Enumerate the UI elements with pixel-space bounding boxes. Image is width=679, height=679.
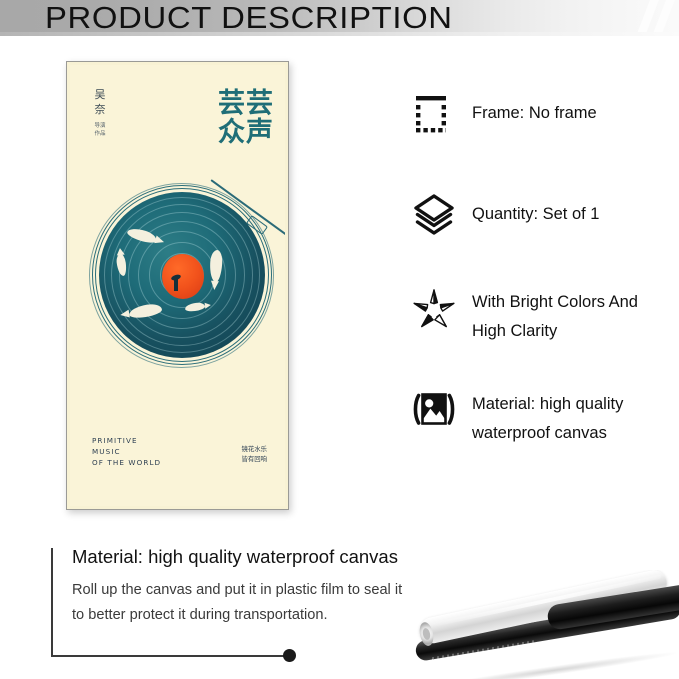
poster-title-column-left: 芸 众 [218, 89, 245, 147]
feature-label-frame: Frame: No frame [472, 92, 597, 128]
rolled-canvas-photo [398, 570, 679, 679]
vinyl-record-icon [99, 192, 265, 358]
feature-item-material: Material: high quality waterproof canvas [412, 388, 672, 448]
feature-item-quantity: Quantity: Set of 1 [412, 193, 600, 237]
poster-caption-cn-line: 镜花水乐 [241, 444, 267, 454]
bottom-material-section: Material: high quality waterproof canvas… [0, 528, 679, 679]
poster-caption-en-line: MUSIC [92, 446, 161, 457]
bracket-dot-icon [283, 649, 296, 662]
poster-title-column-right: 芸 声 [246, 89, 273, 147]
fish-icon [209, 250, 223, 283]
feature-item-clarity: With Bright Colors And High Clarity [412, 286, 672, 346]
layers-icon [412, 193, 456, 237]
bottom-body-line: to better protect it during transportati… [72, 603, 402, 628]
poster-caption-en-line: OF THE WORLD [92, 457, 161, 468]
bottom-body-text: Roll up the canvas and put it in plastic… [72, 578, 402, 628]
poster-title-char: 芸 [218, 89, 245, 118]
poster-caption-cn-line: 皆有回响 [241, 454, 267, 464]
picture-icon [412, 388, 456, 432]
feature-label-material: Material: high quality waterproof canvas [472, 388, 672, 448]
frame-icon [412, 92, 456, 136]
poster-frame: 吴奈 导演作品 芸 声 芸 众 [66, 61, 289, 510]
poster-title-char: 芸 [246, 89, 273, 118]
poster-author-name: 吴奈 [92, 87, 108, 117]
poster-title-char: 众 [218, 118, 245, 147]
bracket-line-horizontal [51, 655, 291, 657]
poster-author-subtitle: 导演作品 [92, 122, 108, 138]
feature-label-clarity: With Bright Colors And High Clarity [472, 286, 672, 346]
bracket-line-vertical [51, 548, 53, 657]
bottom-heading: Material: high quality waterproof canvas [72, 544, 398, 570]
poster-caption-cn: 镜花水乐 皆有回响 [241, 444, 267, 464]
feature-label-quantity: Quantity: Set of 1 [472, 193, 600, 229]
poster-artwork: 吴奈 导演作品 芸 声 芸 众 [70, 65, 285, 506]
poster-title-char: 声 [246, 118, 273, 147]
feature-item-frame: Frame: No frame [412, 92, 597, 136]
figure-silhouette-icon [174, 276, 178, 291]
poster-caption-en-line: PRIMITIVE [92, 435, 161, 446]
poster-image[interactable]: 吴奈 导演作品 芸 声 芸 众 [66, 61, 289, 510]
poster-caption-en: PRIMITIVE MUSIC OF THE WORLD [92, 435, 161, 468]
bottom-body-line: Roll up the canvas and put it in plastic… [72, 578, 402, 603]
sun-icon [162, 254, 204, 299]
star-icon [412, 286, 456, 330]
poster-title: 芸 声 芸 众 [218, 89, 273, 147]
page-title: PRODUCT DESCRIPTION [45, 1, 453, 35]
poster-author-block: 吴奈 导演作品 [92, 87, 108, 138]
